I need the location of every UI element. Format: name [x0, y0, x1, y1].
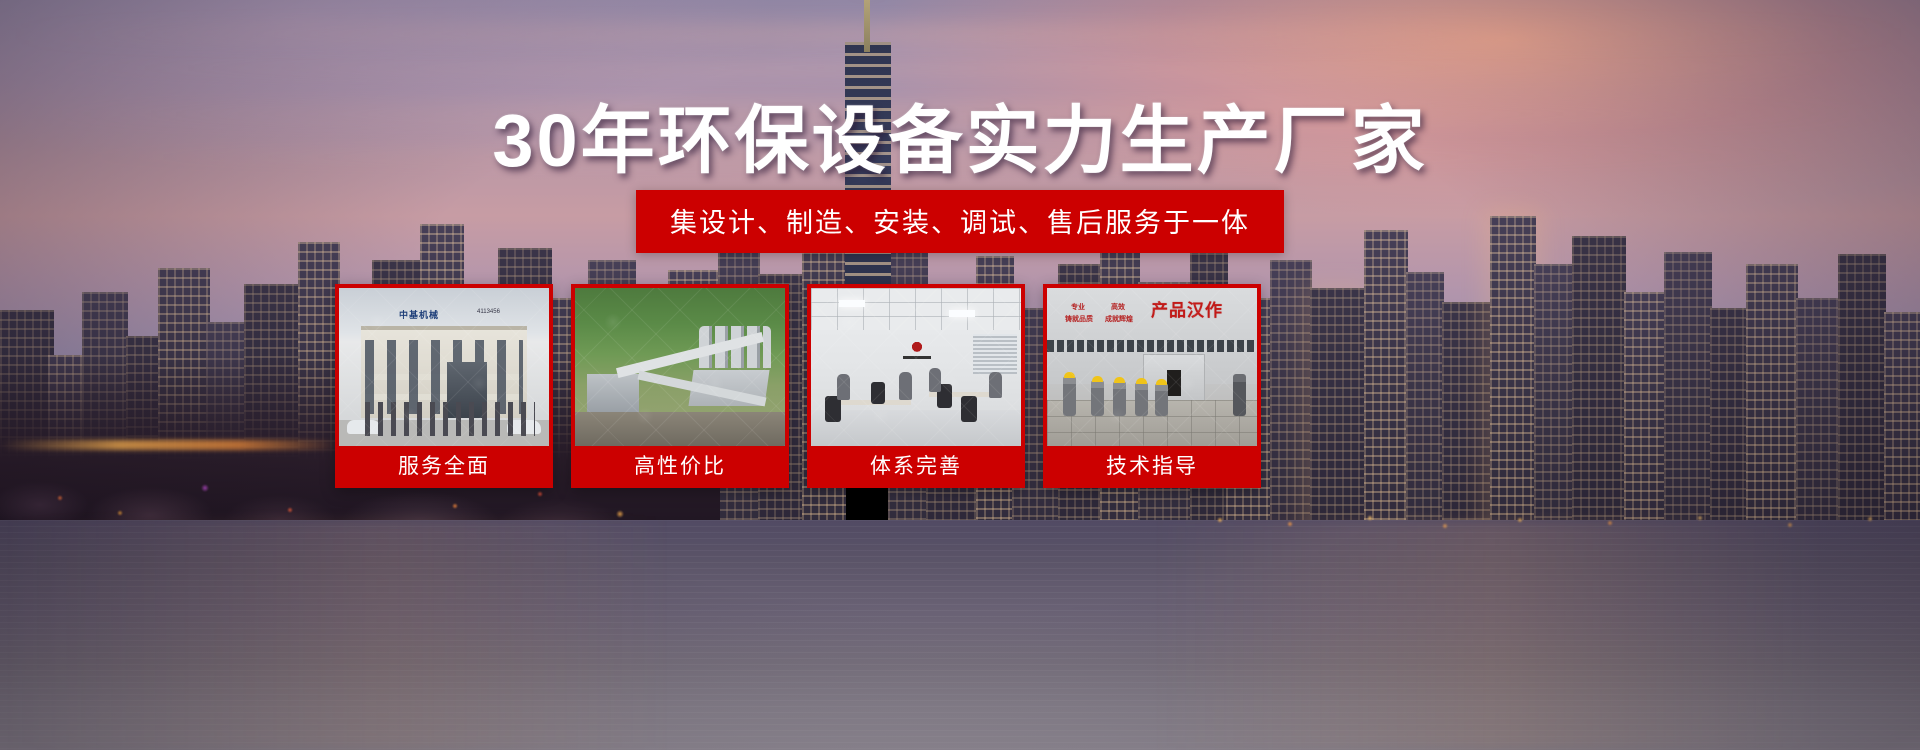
card-label: 体系完善: [811, 446, 1021, 488]
card-photo-headquarters: 中基机械 4113456: [339, 288, 549, 446]
staff-line: [365, 402, 535, 436]
workshop-slogan-main: 产品汉作: [1151, 296, 1223, 321]
building-sign-text: 中基机械: [399, 308, 439, 321]
office-interior-image: [811, 288, 1021, 446]
feature-card[interactable]: 产品汉作 专业 铸就品质 高效 成就辉煌: [1043, 284, 1261, 488]
hero-banner: 30年环保设备实力生产厂家 集设计、制造、安装、调试、售后服务于一体 中基机械 …: [0, 0, 1920, 750]
feature-card[interactable]: 高性价比: [571, 284, 789, 488]
industrial-plant-image: [575, 288, 785, 446]
workshop-image: 产品汉作 专业 铸就品质 高效 成就辉煌: [1047, 288, 1257, 446]
workshop-slogan-mid: 高效: [1111, 304, 1125, 312]
feature-card[interactable]: 体系完善: [807, 284, 1025, 488]
card-photo-workshop: 产品汉作 专业 铸就品质 高效 成就辉煌: [1047, 288, 1257, 446]
card-label: 高性价比: [575, 446, 785, 488]
workshop-slogan-left: 专业: [1071, 304, 1085, 312]
feature-card-list: 中基机械 4113456 服务全面: [335, 284, 1585, 488]
card-label: 服务全面: [339, 446, 549, 488]
card-photo-plant: [575, 288, 785, 446]
building-phone-text: 4113456: [477, 309, 500, 315]
wall-emblem: [903, 338, 931, 360]
feature-card[interactable]: 中基机械 4113456 服务全面: [335, 284, 553, 488]
card-photo-office: [811, 288, 1021, 446]
card-label: 技术指导: [1047, 446, 1257, 488]
workshop-slogan-left2: 铸就品质: [1065, 316, 1093, 324]
workshop-slogan-mid2: 成就辉煌: [1105, 316, 1133, 324]
hero-subtitle-banner: 集设计、制造、安装、调试、售后服务于一体: [636, 190, 1284, 253]
headquarters-image: 中基机械 4113456: [339, 288, 549, 446]
hero-headline: 30年环保设备实力生产厂家: [0, 104, 1920, 178]
